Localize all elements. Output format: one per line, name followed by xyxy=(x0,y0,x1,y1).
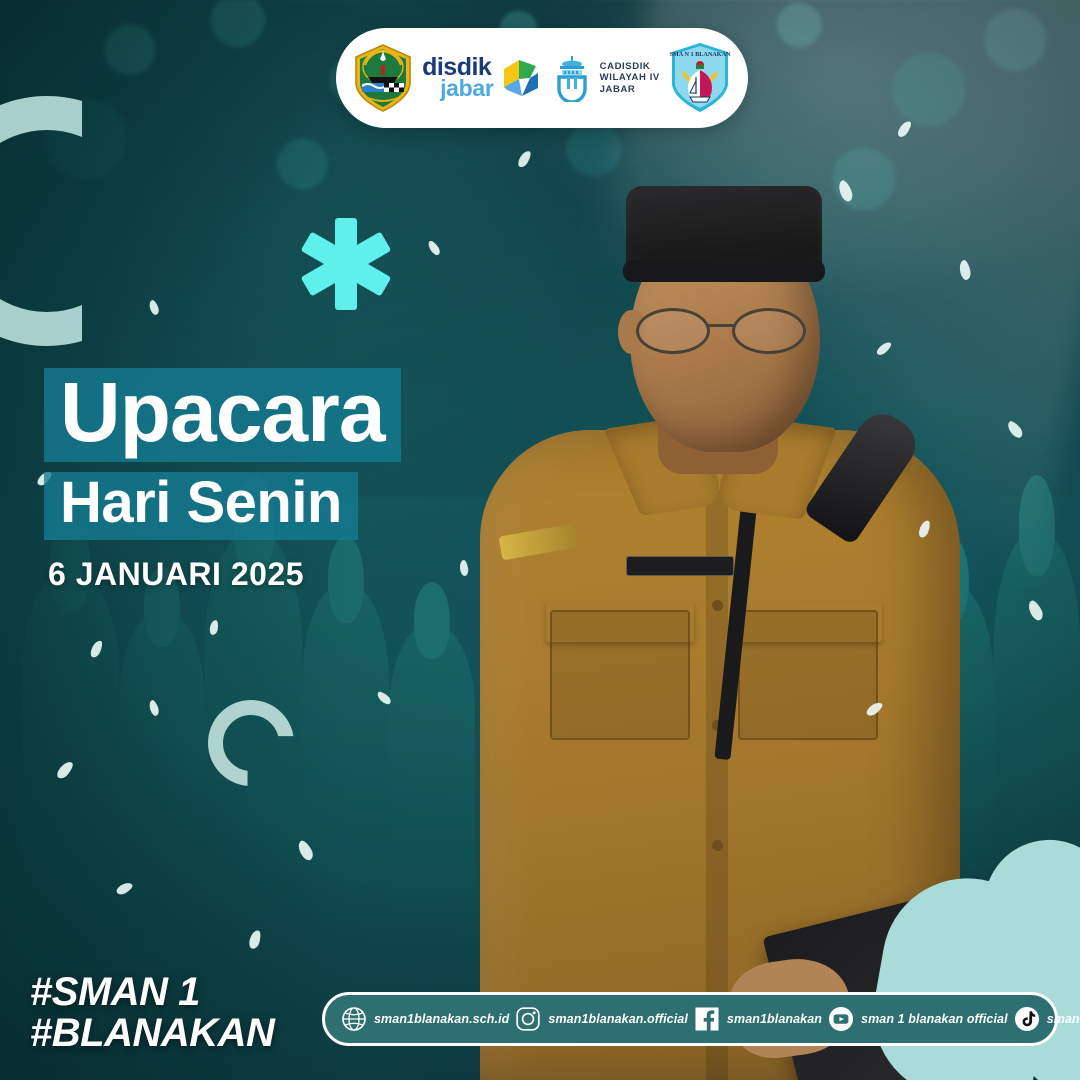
social-item-facebook[interactable]: sman1blanakan xyxy=(694,1006,822,1032)
facebook-handle: sman1blanakan xyxy=(727,1012,822,1026)
tiktok-handle: sman1blanakan xyxy=(1047,1012,1080,1026)
cadisdik-line3: JABAR xyxy=(600,84,660,96)
logo-sman-blanakan: SMA N 1 BLANAKAN xyxy=(668,41,732,115)
youtube-icon xyxy=(828,1006,854,1032)
cadisdik-line2: WILAYAH IV xyxy=(600,72,660,84)
page-subtitle: Hari Senin xyxy=(44,472,358,540)
eyeglasses xyxy=(636,308,812,354)
social-item-youtube[interactable]: sman 1 blanakan official xyxy=(828,1006,1008,1032)
social-item-instagram[interactable]: sman1blanakan.official xyxy=(515,1006,688,1032)
cadisdik-text: CADISDIK WILAYAH IV JABAR xyxy=(600,61,660,96)
social-item-tiktok[interactable]: sman1blanakan xyxy=(1014,1006,1080,1032)
headline-block: Upacara Hari Senin 6 JANUARI 2025 xyxy=(44,368,401,593)
shirt-pocket-right xyxy=(738,610,878,740)
cadisdik-line1: CADISDIK xyxy=(600,61,660,73)
facebook-icon xyxy=(694,1006,720,1032)
globe-icon xyxy=(341,1006,367,1032)
tiktok-icon xyxy=(1014,1006,1040,1032)
social-bar: sman1blanakan.sch.id sman1blanakan.offic… xyxy=(322,992,1058,1046)
instagram-icon xyxy=(515,1006,541,1032)
website-handle: sman1blanakan.sch.id xyxy=(374,1012,509,1026)
hashtag-line1: #SMAN 1 xyxy=(30,972,274,1013)
event-date: 6 JANUARI 2025 xyxy=(48,556,401,593)
disdik-cube-icon xyxy=(500,57,542,99)
svg-text:SMA N 1 BLANAKAN: SMA N 1 BLANAKAN xyxy=(669,51,731,58)
hashtag-line2: #BLANAKAN xyxy=(30,1013,274,1054)
logo-bar: disdik jabar CADISDIK xyxy=(336,28,748,128)
logo-cadisdik: CADISDIK WILAYAH IV JABAR xyxy=(550,54,660,102)
social-item-website[interactable]: sman1blanakan.sch.id xyxy=(341,1006,509,1032)
jabar-provincial-crest-icon xyxy=(352,43,414,113)
asterisk-icon xyxy=(300,218,392,310)
logo-jabar-crest xyxy=(352,43,414,113)
hashtag-branding: #SMAN 1 #BLANAKAN xyxy=(30,972,274,1054)
shirt-pocket-left xyxy=(550,610,690,740)
instagram-handle: sman1blanakan.official xyxy=(548,1012,688,1026)
cadisdik-building-icon xyxy=(550,54,594,102)
sman-1-blanakan-crest-icon: SMA N 1 BLANAKAN xyxy=(668,41,732,115)
poster-canvas: disdik jabar CADISDIK xyxy=(0,0,1080,1080)
page-title: Upacara xyxy=(44,368,401,462)
name-tag xyxy=(626,556,734,576)
jabar-label: jabar xyxy=(440,79,493,99)
logo-disdik-jabar: disdik jabar xyxy=(422,57,541,99)
youtube-handle: sman 1 blanakan official xyxy=(861,1012,1008,1026)
peci-cap xyxy=(626,186,822,272)
